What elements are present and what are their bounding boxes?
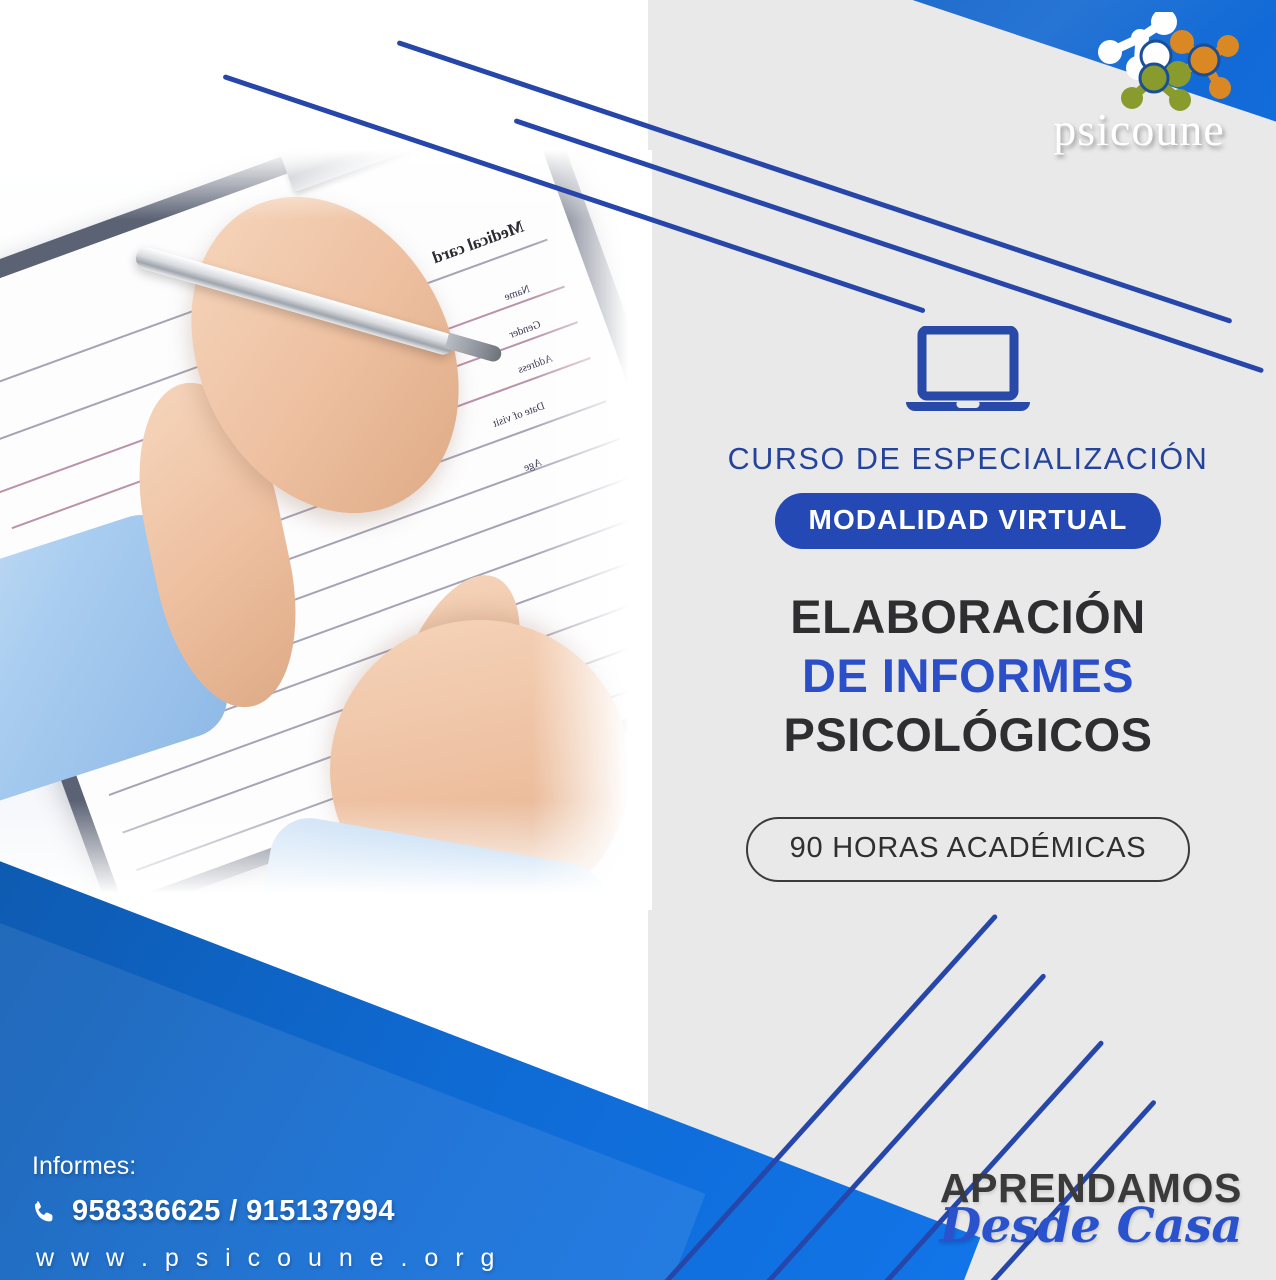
modality-badge: MODALIDAD VIRTUAL: [775, 493, 1162, 549]
form-title: Medical card: [430, 217, 527, 269]
contact-phones-row[interactable]: 958336625 / 915137994: [32, 1195, 502, 1228]
course-title-line-2: DE INFORMES: [784, 646, 1153, 705]
poster-canvas: Medical card Name Date of birth Gender A…: [0, 0, 1276, 1280]
laptop-icon: [904, 326, 1032, 418]
main-content-column: CURSO DE ESPECIALIZACIÓN MODALIDAD VIRTU…: [660, 0, 1276, 1120]
course-kicker: CURSO DE ESPECIALIZACIÓN: [728, 442, 1209, 477]
hours-badge: 90 HORAS ACADÉMICAS: [746, 817, 1191, 882]
contact-block: Informes: 958336625 / 915137994 w w w . …: [32, 1152, 502, 1273]
phone-icon: [32, 1199, 58, 1225]
course-title-line-1: ELABORACIÓN: [784, 587, 1153, 646]
slogan-block: APRENDAMOS Desde Casa: [922, 1165, 1242, 1254]
hands-writing-clipboard-photo: Medical card Name Date of birth Gender A…: [0, 150, 652, 910]
contact-label: Informes:: [32, 1152, 502, 1181]
course-title-line-3: PSICOLÓGICOS: [784, 705, 1153, 764]
photo-fade-bottom: [0, 800, 652, 910]
contact-website[interactable]: w w w . p s i c o u n e . o r g: [36, 1244, 502, 1273]
photo-fade-right: [532, 150, 652, 910]
contact-phone-numbers: 958336625 / 915137994: [72, 1195, 395, 1228]
course-title: ELABORACIÓN DE INFORMES PSICOLÓGICOS: [784, 587, 1153, 765]
slogan-bottom-line: Desde Casa: [922, 1198, 1242, 1254]
